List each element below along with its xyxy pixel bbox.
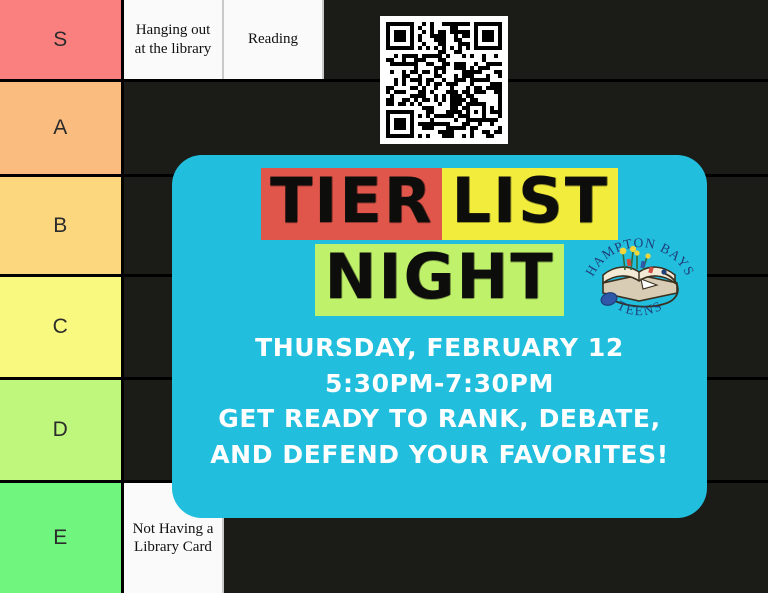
detail-description-2: AND DEFEND YOUR FAVORITES! — [186, 437, 693, 473]
detail-time: 5:30PM-7:30PM — [186, 366, 693, 402]
tier-label-a[interactable]: A — [0, 82, 124, 174]
tier-label-b[interactable]: B — [0, 177, 124, 274]
detail-date: THURSDAY, FEBRUARY 12 — [186, 330, 693, 366]
tier-label-s[interactable]: S — [0, 0, 124, 79]
tier-label-d[interactable]: D — [0, 380, 124, 480]
flyer-card: TIERLIST NIGHT THURSDAY, FEBRUARY 12 5:3… — [172, 155, 707, 518]
flyer-details: THURSDAY, FEBRUARY 12 5:30PM-7:30PM GET … — [172, 330, 707, 472]
detail-description-1: GET READY TO RANK, DEBATE, — [186, 401, 693, 437]
qr-code[interactable] — [380, 16, 508, 144]
hampton-bays-teens-logo: HAMPTON BAYS TEENS — [581, 215, 699, 327]
tier-label-c[interactable]: C — [0, 277, 124, 377]
qr-code-image — [386, 22, 502, 138]
logo-artwork: HAMPTON BAYS TEENS — [581, 215, 699, 327]
headphone-tip-icon — [661, 269, 666, 274]
tier-item[interactable]: Reading — [224, 0, 324, 79]
tier-item[interactable]: Hanging out at the library — [124, 0, 224, 79]
tier-label-e[interactable]: E — [0, 483, 124, 593]
poster-canvas: SHanging out at the libraryReadingABCDEN… — [0, 0, 768, 593]
title-word-night: NIGHT — [315, 244, 563, 316]
title-word-tier: TIER — [261, 168, 442, 240]
